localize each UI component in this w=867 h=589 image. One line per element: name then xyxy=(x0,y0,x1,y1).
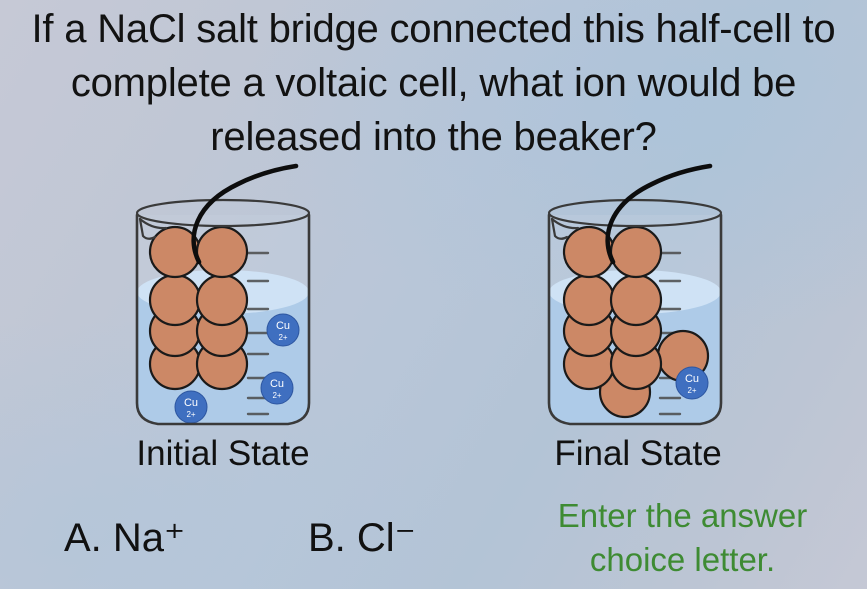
answer-choice-a[interactable]: A. Na⁺ xyxy=(64,515,185,561)
cu-ion-group: Cu 2+ xyxy=(676,367,708,399)
slide-canvas: If a NaCl salt bridge connected this hal… xyxy=(0,0,867,589)
answer-prompt-text: Enter the answer choice letter. xyxy=(510,494,855,582)
copper-atom xyxy=(564,275,614,325)
cu-ion-charge: 2+ xyxy=(687,386,696,395)
initial-state-label: Initial State xyxy=(113,434,333,474)
cu-ion-symbol: Cu xyxy=(685,373,699,385)
copper-atom xyxy=(611,275,661,325)
answer-choice-b[interactable]: B. Cl⁻ xyxy=(308,515,416,561)
copper-atom xyxy=(611,227,661,277)
question-text: If a NaCl salt bridge connected this hal… xyxy=(30,2,837,164)
cu-ion: Cu 2+ xyxy=(676,367,708,399)
final-state-label: Final State xyxy=(528,434,748,474)
